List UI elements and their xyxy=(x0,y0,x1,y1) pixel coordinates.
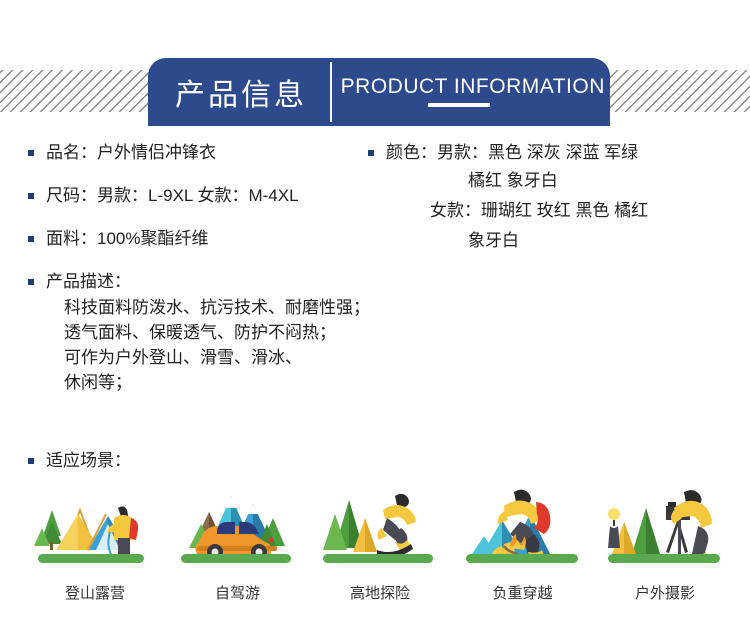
spec-row-size: 尺码：男款：L-9XL 女款：M-4XL xyxy=(28,183,368,209)
title-divider xyxy=(330,62,332,122)
spec-text-material: 面料：100%聚酯纤维 xyxy=(46,226,208,252)
header-banner: 产品信息 PRODUCT INFORMATION xyxy=(0,58,750,126)
spec-row-name: 品名：户外情侣冲锋衣 xyxy=(28,140,368,166)
hatch-pattern-left xyxy=(0,70,150,112)
description-line: 科技面料防泼水、抗污技术、耐磨性强； xyxy=(64,295,368,320)
bullet-square-icon xyxy=(28,193,34,199)
bullet-square-icon xyxy=(28,236,34,242)
spec-row-color: 颜色：男款：黑色 深灰 深蓝 军绿 xyxy=(368,140,738,166)
title-english-wrap: PRODUCT INFORMATION xyxy=(332,75,611,109)
trekking-icon xyxy=(458,484,588,574)
description-body: 科技面料防泼水、抗污技术、耐磨性强； 透气面料、保暖透气、防护不闷热； 可作为户… xyxy=(28,295,368,395)
bullet-square-icon xyxy=(28,150,34,156)
scene-label: 负重穿越 xyxy=(492,582,552,603)
description-line: 透气面料、保暖透气、防护不闷热； xyxy=(64,320,368,345)
scene-item: 高地探险 xyxy=(315,484,445,603)
spec-text-color-women: 女款：珊瑚红 玫红 黑色 橘红 xyxy=(368,196,738,226)
spec-text-color-men: 颜色：男款：黑色 深灰 深蓝 军绿 xyxy=(386,140,638,166)
spec-text-name: 品名：户外情侣冲锋衣 xyxy=(46,140,216,166)
spec-text-description-label: 产品描述： xyxy=(46,269,131,295)
title-english: PRODUCT INFORMATION xyxy=(341,75,605,99)
scene-label: 高地探险 xyxy=(350,582,410,603)
scenes-label: 适应场景： xyxy=(46,448,131,474)
spec-text-color-men-line2: 橘红 象牙白 xyxy=(368,166,738,196)
title-banner: 产品信息 PRODUCT INFORMATION xyxy=(148,58,610,126)
scene-label: 登山露营 xyxy=(65,582,125,603)
road-trip-icon xyxy=(173,484,303,574)
spec-text-size: 尺码：男款：L-9XL 女款：M-4XL xyxy=(46,183,299,209)
title-chinese: 产品信息 xyxy=(148,70,330,114)
spec-column-right: 颜色：男款：黑色 深灰 深蓝 军绿 橘红 象牙白 女款：珊瑚红 玫红 黑色 橘红… xyxy=(368,140,738,256)
spec-row-description: 产品描述： xyxy=(28,269,368,295)
scene-item: 自驾游 xyxy=(173,484,303,603)
spec-text-color-women-line2: 象牙白 xyxy=(368,226,738,256)
title-underline xyxy=(428,103,490,107)
scene-label: 户外摄影 xyxy=(635,582,695,603)
scene-item: 负重穿越 xyxy=(458,484,588,603)
scenes-heading: 适应场景： xyxy=(28,448,131,474)
camping-icon xyxy=(30,484,160,574)
bullet-square-icon xyxy=(28,279,34,285)
outdoor-photography-icon xyxy=(600,484,730,574)
scene-icon-row: 登山露营 xyxy=(30,484,730,603)
spec-row-material: 面料：100%聚酯纤维 xyxy=(28,226,368,252)
scene-item: 户外摄影 xyxy=(600,484,730,603)
spec-column-left: 品名：户外情侣冲锋衣 尺码：男款：L-9XL 女款：M-4XL 面料：100%聚… xyxy=(28,140,368,395)
bullet-square-icon xyxy=(28,458,34,464)
description-line: 可作为户外登山、滑雪、滑冰、 xyxy=(64,345,368,370)
bullet-square-icon xyxy=(368,150,374,156)
scene-label: 自驾游 xyxy=(215,582,260,603)
hatch-pattern-right xyxy=(610,70,750,112)
description-line: 休闲等； xyxy=(64,370,368,395)
highland-adventure-icon xyxy=(315,484,445,574)
scene-item: 登山露营 xyxy=(30,484,160,603)
